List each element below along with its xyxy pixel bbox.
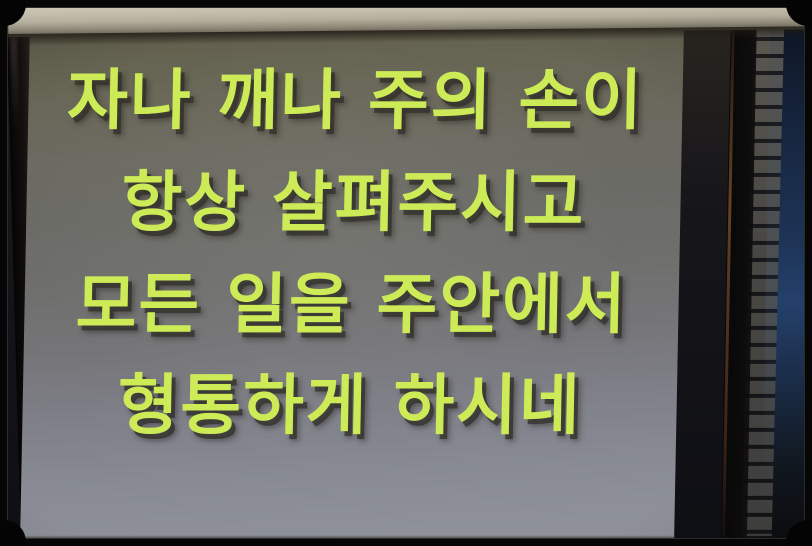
photo-frame: 자나 깨나 주의 손이 항상 살펴주시고 모든 일을 주안에서 형통하게 하시네 — [0, 0, 812, 546]
screen-texture — [20, 24, 684, 538]
projection-screen-surface — [20, 24, 684, 538]
screen-bottom-edge — [20, 535, 674, 538]
photo-scene: 자나 깨나 주의 손이 항상 살펴주시고 모든 일을 주안에서 형통하게 하시네 — [8, 8, 804, 538]
screen-vignette — [20, 24, 684, 538]
